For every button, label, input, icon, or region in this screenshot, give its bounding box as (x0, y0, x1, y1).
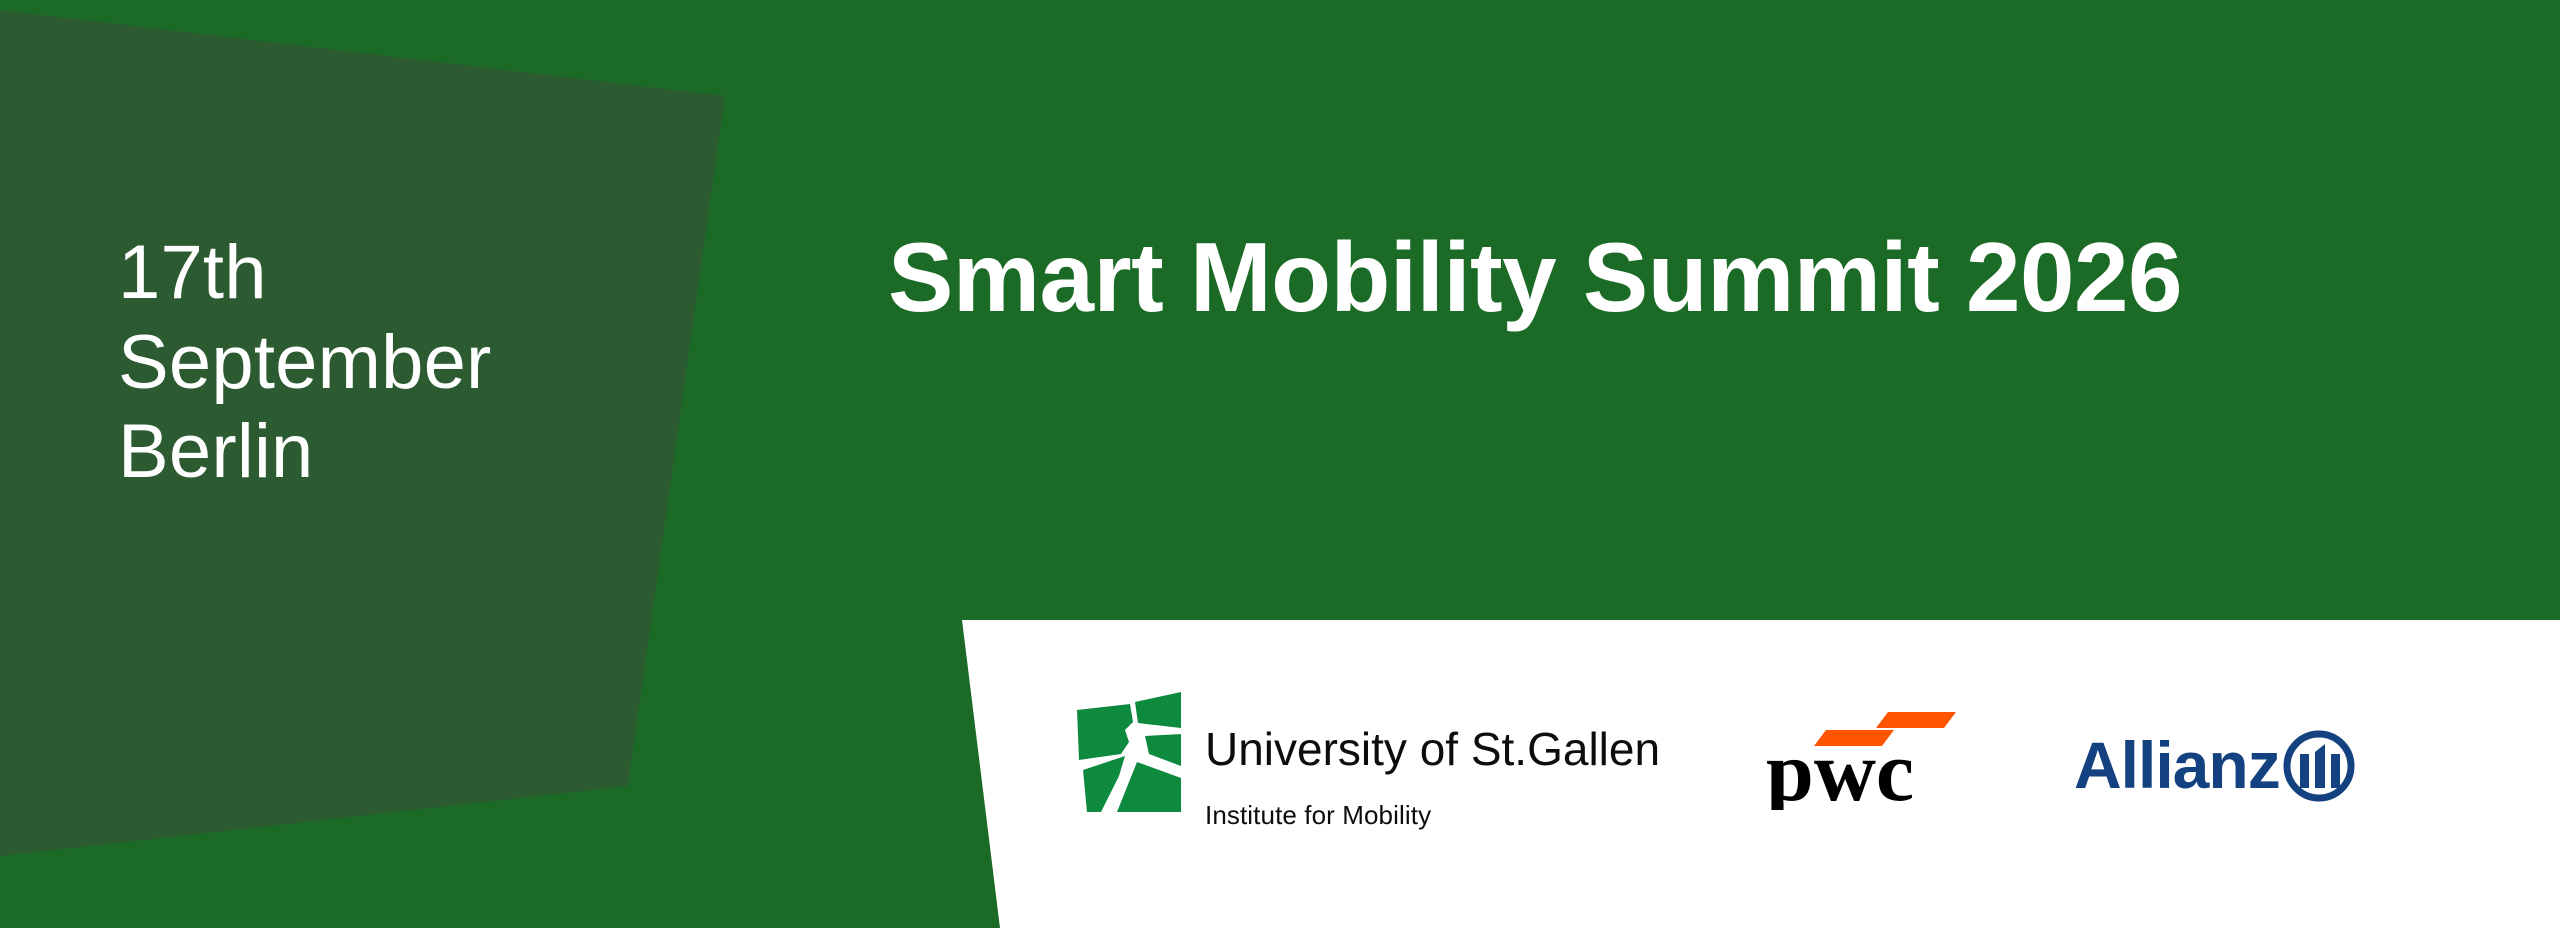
pwc-wordmark: pwc (1766, 723, 1914, 810)
hsg-logo-icon (1075, 692, 1183, 814)
sponsor-logo-pwc: pwc (1766, 700, 1966, 810)
pwc-logo-icon: pwc (1766, 700, 1966, 810)
event-title: Smart Mobility Summit 2026 (888, 226, 2182, 329)
sponsor-logo-allianz: Allianz (2074, 728, 2356, 804)
event-month: September (118, 318, 678, 408)
event-city: Berlin (118, 407, 678, 497)
event-date-block: 17th September Berlin (118, 228, 678, 497)
event-day: 17th (118, 228, 678, 318)
allianz-logo-icon: Allianz (2074, 728, 2356, 804)
hsg-wordmark-group: University of St.Gallen Institute for Mo… (1205, 686, 1660, 828)
hsg-institute-name: Institute for Mobility (1205, 802, 1660, 828)
hsg-university-name: University of St.Gallen (1205, 726, 1660, 772)
sponsor-logo-row: University of St.Gallen Institute for Mo… (1075, 686, 2356, 828)
sponsor-logo-university-of-st-gallen: University of St.Gallen Institute for Mo… (1075, 686, 1660, 828)
allianz-circle-bars-icon (2287, 734, 2351, 798)
allianz-wordmark: Allianz (2074, 728, 2280, 802)
event-banner: 17th September Berlin Smart Mobility Sum… (0, 0, 2560, 928)
